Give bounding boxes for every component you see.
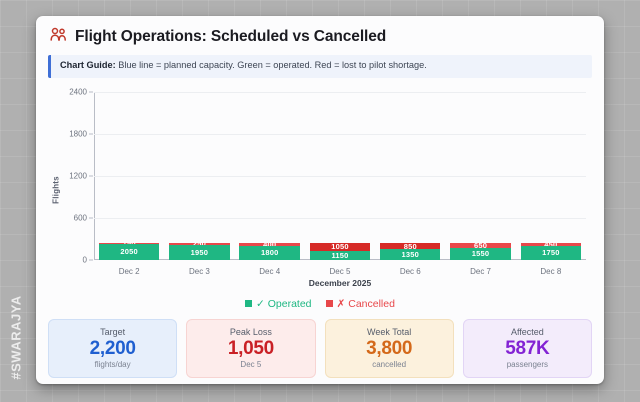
legend-swatch-icon — [326, 300, 333, 307]
bar-segment-operated[interactable]: 1150 — [310, 251, 370, 260]
y-axis-tick-label: 2400 — [69, 87, 94, 96]
watermark-text: #SWARAJYA — [9, 295, 24, 379]
bar-segment-operated[interactable]: 2050 — [99, 244, 159, 259]
legend-label: ✗ Cancelled — [337, 298, 395, 310]
y-axis-title: Flights — [51, 176, 60, 204]
x-axis-tick-label: Dec 6 — [400, 267, 421, 276]
bar-segment-operated[interactable]: 1350 — [380, 249, 440, 259]
y-axis-tick-label: 1200 — [69, 171, 94, 180]
bar-stack[interactable]: 2501950 — [169, 242, 229, 260]
stat-card-label: Affected — [468, 327, 587, 337]
stat-card-value: 2,200 — [53, 339, 172, 359]
legend-item-cancelled[interactable]: ✗ Cancelled — [326, 298, 395, 310]
bar-slot[interactable]: 6501550Dec 7 — [445, 92, 515, 260]
stat-card-affected[interactable]: Affected587Kpassengers — [463, 319, 592, 379]
stat-card-target[interactable]: Target2,200flights/day — [48, 319, 177, 379]
x-axis-title: December 2025 — [94, 278, 586, 288]
x-axis-tick-label: Dec 8 — [540, 267, 561, 276]
x-axis-tick-label: Dec 2 — [119, 267, 140, 276]
chart-legend: ✓ Operated✗ Cancelled — [36, 298, 604, 310]
legend-swatch-icon — [245, 300, 252, 307]
bar-slot[interactable]: 1502050Dec 2 — [94, 92, 164, 260]
bar-group: 1502050Dec 22501950Dec 34001800Dec 41050… — [94, 92, 586, 260]
stat-card-sublabel: Dec 5 — [191, 360, 310, 369]
bar-segment-operated[interactable]: 1550 — [450, 248, 510, 260]
bar-stack[interactable]: 8501350 — [380, 242, 440, 260]
bar-stack[interactable]: 4501750 — [521, 242, 581, 260]
stat-card-label: Peak Loss — [191, 327, 310, 337]
legend-item-operated[interactable]: ✓ Operated — [245, 298, 312, 310]
chart-guide-banner: Chart Guide: Blue line = planned capacit… — [48, 55, 592, 78]
x-axis-tick-label: Dec 3 — [189, 267, 210, 276]
chart-guide-label: Chart Guide: — [60, 60, 116, 70]
stat-card-label: Week Total — [330, 327, 449, 337]
dashboard-panel: Flight Operations: Scheduled vs Cancelle… — [36, 16, 604, 384]
y-axis-tick-label: 600 — [74, 213, 94, 222]
bar-slot[interactable]: 4501750Dec 8 — [516, 92, 586, 260]
bar-slot[interactable]: 2501950Dec 3 — [164, 92, 234, 260]
chart-guide-text: Blue line = planned capacity. Green = op… — [116, 60, 427, 70]
stat-card-peak[interactable]: Peak Loss1,050Dec 5 — [186, 319, 315, 379]
stat-card-value: 1,050 — [191, 339, 310, 359]
bar-slot[interactable]: 10501150Dec 5 — [305, 92, 375, 260]
stat-card-label: Target — [53, 327, 172, 337]
bar-stack[interactable]: 1502050 — [99, 242, 159, 260]
y-axis-tick-label: 0 — [83, 255, 94, 264]
stat-card-sublabel: flights/day — [53, 360, 172, 369]
stat-card-value: 587K — [468, 339, 587, 359]
bar-stack[interactable]: 10501150 — [310, 242, 370, 260]
chart: Flights 0600120018002400 1502050Dec 2250… — [48, 84, 592, 296]
stat-card-value: 3,800 — [330, 339, 449, 359]
bar-slot[interactable]: 8501350Dec 6 — [375, 92, 445, 260]
bar-stack[interactable]: 4001800 — [239, 242, 299, 260]
plot-area: 0600120018002400 1502050Dec 22501950Dec … — [94, 92, 586, 260]
y-axis-tick-label: 1800 — [69, 129, 94, 138]
stat-card-sublabel: passengers — [468, 360, 587, 369]
stat-cards: Target2,200flights/dayPeak Loss1,050Dec … — [48, 319, 592, 379]
watermark: #SWARAJYA — [2, 282, 30, 392]
panel-header: Flight Operations: Scheduled vs Cancelle… — [36, 16, 604, 53]
bar-segment-operated[interactable]: 1750 — [521, 246, 581, 259]
x-axis-tick-label: Dec 5 — [330, 267, 351, 276]
page-title: Flight Operations: Scheduled vs Cancelle… — [75, 28, 386, 46]
stat-card-sublabel: cancelled — [330, 360, 449, 369]
bar-stack[interactable]: 6501550 — [450, 242, 510, 260]
legend-label: ✓ Operated — [256, 298, 312, 310]
bar-segment-operated[interactable]: 1800 — [239, 246, 299, 260]
stat-card-week[interactable]: Week Total3,800cancelled — [325, 319, 454, 379]
bar-slot[interactable]: 4001800Dec 4 — [235, 92, 305, 260]
x-axis-tick-label: Dec 4 — [259, 267, 280, 276]
x-axis-tick-label: Dec 7 — [470, 267, 491, 276]
bar-segment-cancelled[interactable]: 1050 — [310, 243, 370, 251]
people-icon — [50, 27, 67, 47]
bar-segment-operated[interactable]: 1950 — [169, 245, 229, 260]
